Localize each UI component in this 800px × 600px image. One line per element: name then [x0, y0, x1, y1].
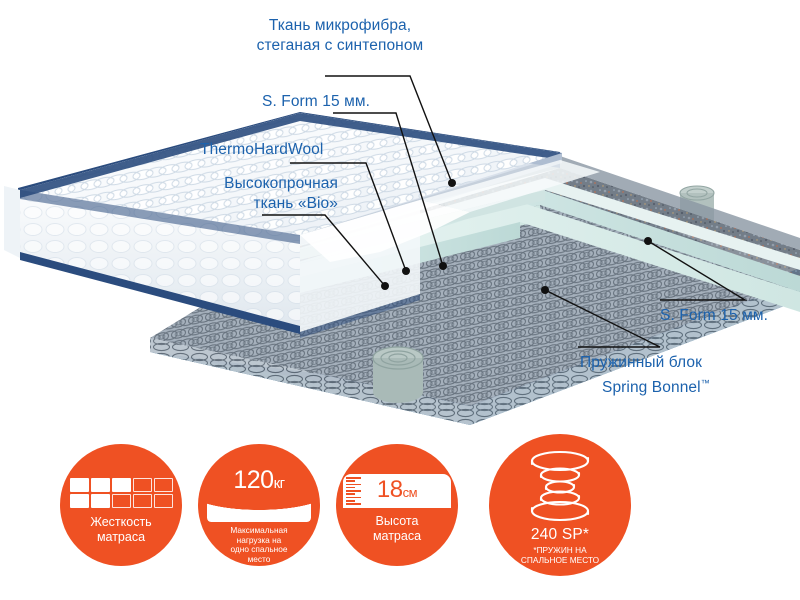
- mattress-load-icon: [207, 496, 311, 522]
- label-thermohardwool: ThermoHardWool: [200, 140, 323, 160]
- badge-hardness: Жесткость матраса: [60, 444, 182, 566]
- height-band: 18см: [343, 474, 451, 508]
- badge-hardness-caption: Жесткость матраса: [90, 515, 151, 545]
- label-sform-right: S. Form 15 мм.: [660, 306, 768, 326]
- badge-springs-caption: *ПРУЖИН НА СПАЛЬНОЕ МЕСТО: [521, 546, 599, 565]
- badge-max-load: 120кг Максимальная нагрузка на одно спал…: [198, 444, 320, 566]
- ruler-icon: [346, 477, 362, 505]
- label-spring-line1: Пружинный блок: [580, 354, 702, 371]
- hardness-grid-icon: [70, 478, 173, 508]
- label-spring-line2: Spring Bonnel: [580, 379, 701, 396]
- mattress-infographic: ЦЕНТР: [0, 0, 800, 600]
- spec-badges: Жесткость матраса 120кг Максимальная наг…: [0, 432, 800, 600]
- load-unit: кг: [274, 475, 285, 492]
- label-sform-top: S. Form 15 мм.: [262, 92, 370, 112]
- label-fabric: Ткань микрофибра, стеганая с синтепоном: [190, 16, 490, 56]
- badge-load-caption: Максимальная нагрузка на одно спальное м…: [230, 526, 287, 564]
- label-bio-fabric: Высокопрочная ткань «Bio»: [168, 174, 338, 214]
- trademark-mark: ™: [701, 378, 710, 388]
- badge-height: 18см Высота матраса: [336, 444, 458, 566]
- badge-load-value: 120кг: [233, 466, 284, 495]
- height-unit: см: [403, 485, 417, 500]
- badge-springs-value: 240 SP*: [531, 526, 589, 544]
- badge-height-caption: Высота матраса: [373, 514, 421, 544]
- height-number: 18: [377, 476, 403, 503]
- spring-coil-icon: [527, 450, 593, 522]
- label-spring-block: Пружинный блокSpring Bonnel™: [580, 352, 710, 398]
- badge-height-value: 18см: [377, 478, 417, 505]
- badge-springs: 240 SP* *ПРУЖИН НА СПАЛЬНОЕ МЕСТО: [489, 434, 631, 576]
- load-number: 120: [233, 466, 273, 494]
